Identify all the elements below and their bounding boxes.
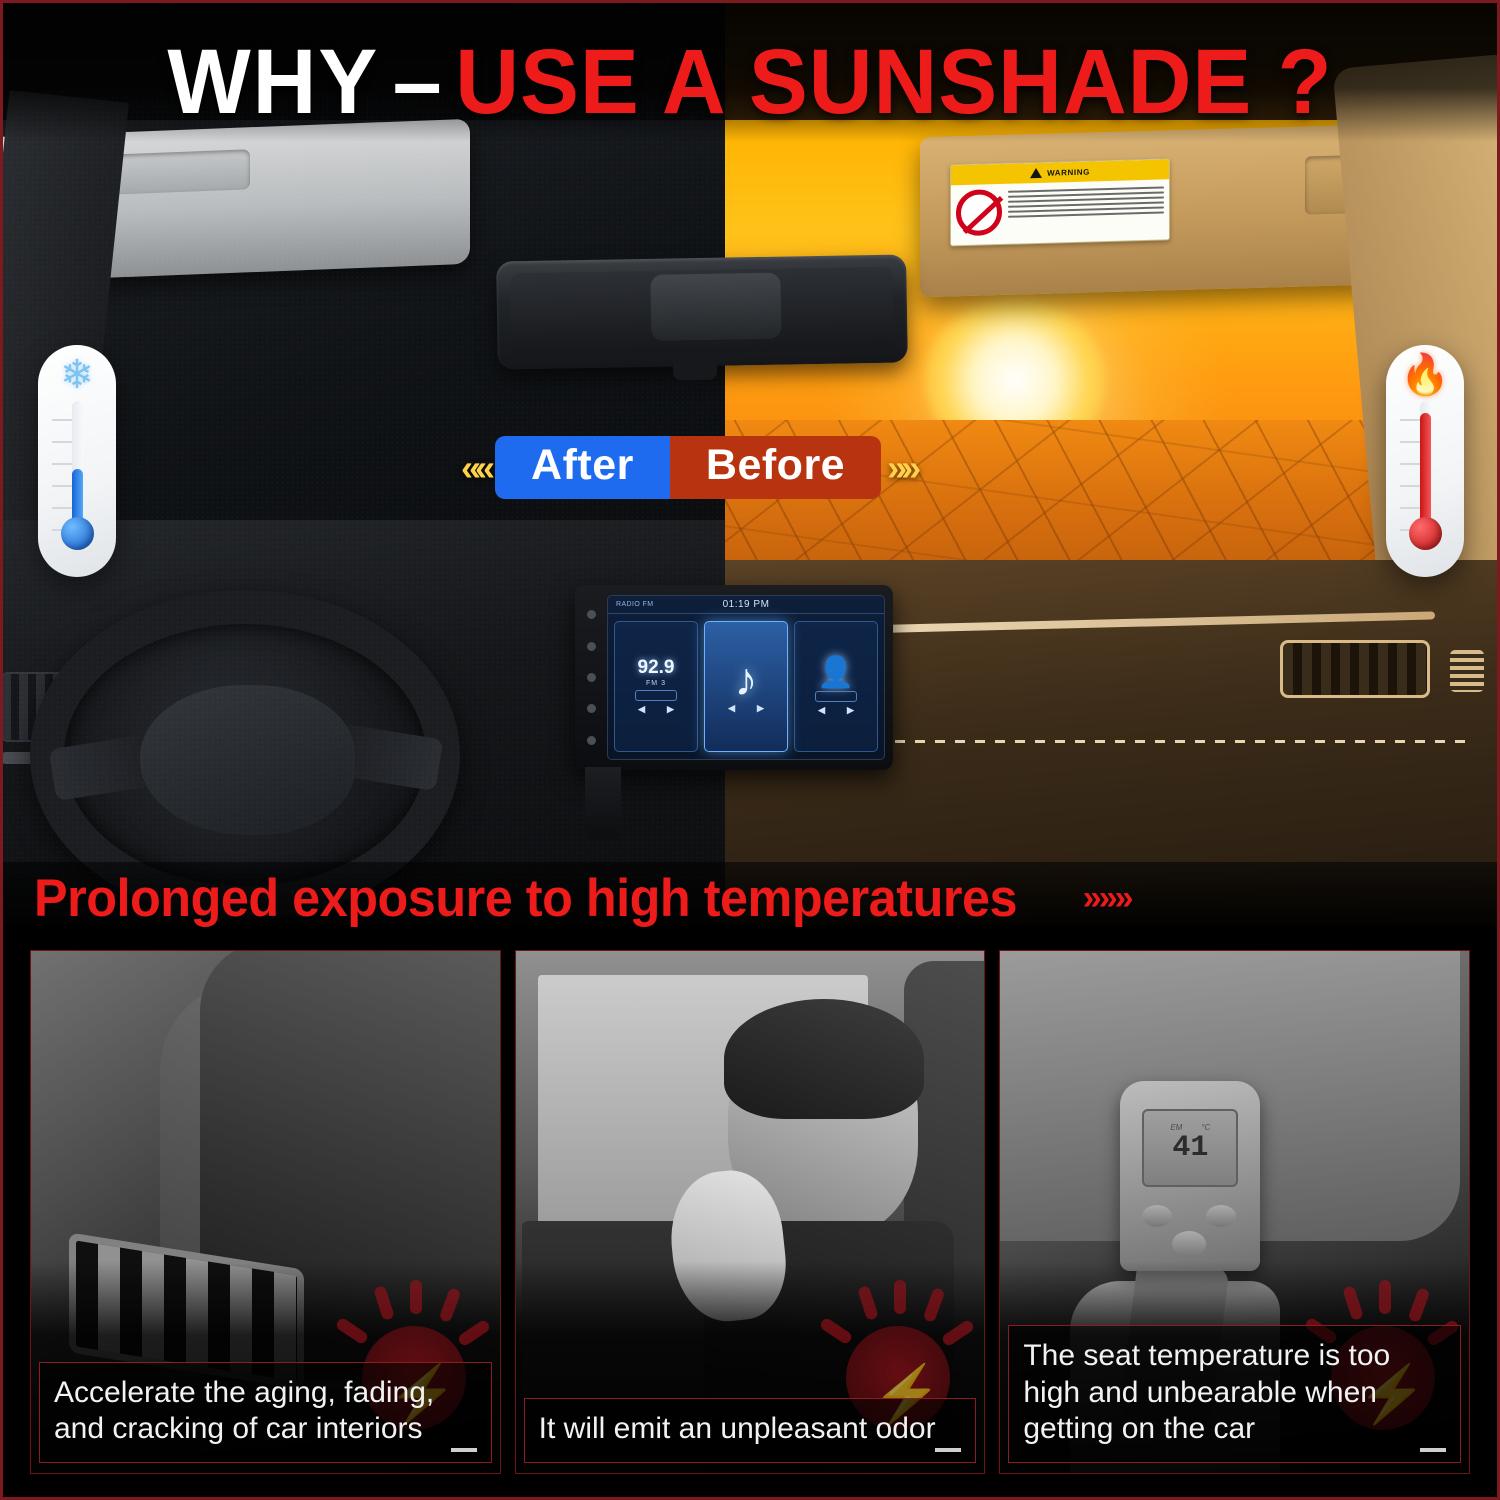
radio-seek-controls[interactable]: ◀ ▶ [638,704,674,715]
product-infographic: WARNING [0,0,1500,1500]
subhead-chevrons-icon: »»» [1083,879,1131,918]
lcd-mode-labels: EM°C [1170,1123,1210,1132]
before-after-badges: «« After Before »» [455,436,921,499]
panel-caption-text: It will emit an unpleasant odor [539,1411,962,1448]
thermometer-mercury-hot [1420,413,1431,531]
headline-white: WHY [167,36,379,128]
rearview-mirror [496,254,908,369]
head-unit-screen[interactable]: RADIO FM 01:19 PM 92.9 FM 3 ◀ ▶ ♪ [607,595,885,760]
back-button-icon[interactable] [587,704,596,713]
cold-thermometer: ❄ [38,345,116,577]
menu-button-icon[interactable] [587,673,596,682]
thermometer-reading: 41 [1172,1131,1208,1165]
subhead-text: Prolonged exposure to high temperatures [34,872,1017,925]
after-badge: After [495,436,670,499]
caption-underscore [1420,1448,1446,1452]
head-unit-side-buttons[interactable] [583,599,599,756]
hot-thermometer: 🔥 [1386,345,1464,577]
power-button-icon[interactable] [587,610,596,619]
warning-text-lines [1008,184,1164,234]
caption-underscore [935,1448,961,1452]
phone-action-pill[interactable] [815,691,857,702]
panel-caption: Accelerate the aging, fading, and cracki… [39,1362,492,1463]
seek-next-icon[interactable]: ▶ [667,704,674,715]
phone-next-icon[interactable]: ▶ [847,705,854,716]
warning-triangle-icon [1030,168,1042,178]
thermometer-bulb-cold [61,517,94,550]
volume-button-icon[interactable] [587,736,596,745]
headline-red: USE A SUNSHADE ? [455,36,1332,128]
warning-body [951,179,1169,241]
head-unit-clock: 01:19 PM [723,599,770,610]
media-next-icon[interactable]: ▶ [757,703,764,714]
panel-seat-temperature: EM°C 41 ⚡ The seat temperature [999,950,1470,1474]
air-vent-sunlit [1280,640,1430,698]
snowflake-icon: ❄ [38,355,116,395]
media-transport-controls[interactable]: ◀ ▶ [728,703,764,714]
head-unit-mount [585,767,621,839]
headline-dash: – [379,36,455,128]
person-hair [724,999,924,1119]
caption-underscore [451,1448,477,1452]
hero-split-comparison: WARNING [0,0,1500,925]
gun-button-right[interactable] [1206,1205,1236,1227]
gun-button-left[interactable] [1142,1205,1172,1227]
phone-prev-icon[interactable]: ◀ [818,705,825,716]
infotainment-head-unit[interactable]: RADIO FM 01:19 PM 92.9 FM 3 ◀ ▶ ♪ [575,585,893,770]
before-badge: Before [670,436,881,499]
contact-person-icon: 👤 [817,658,854,688]
head-unit-source-label: RADIO FM [616,601,653,608]
radio-tile[interactable]: 92.9 FM 3 ◀ ▶ [614,621,698,752]
panel-interior-aging: ⚡ Accelerate the aging, fading, and crac… [30,950,501,1474]
mirror-glass [510,267,893,356]
home-button-icon[interactable] [587,642,596,651]
head-unit-status-bar: RADIO FM 01:19 PM [608,596,884,614]
gun-button-center[interactable] [1172,1231,1206,1257]
panel-caption-text: Accelerate the aging, fading, and cracki… [54,1375,477,1448]
left-chevrons-icon: «« [455,450,495,486]
airbag-warning-label: WARNING [950,158,1170,246]
head-unit-tiles: 92.9 FM 3 ◀ ▶ ♪ ◀ ▶ [608,614,884,759]
mirror-reflection-headrest [650,273,781,341]
media-tile[interactable]: ♪ ◀ ▶ [704,621,788,752]
music-note-icon: ♪ [735,659,758,700]
infrared-thermometer-gun: EM°C 41 [1120,1081,1260,1271]
radio-preset-pill[interactable] [635,690,677,701]
warning-title: WARNING [1047,167,1090,177]
thermometer-lcd: EM°C 41 [1142,1109,1238,1187]
air-vent-side [1450,650,1484,692]
phone-tile[interactable]: 👤 ◀ ▶ [794,621,878,752]
page-title: WHY – USE A SUNSHADE ? [30,28,1470,136]
flame-icon: 🔥 [1386,355,1464,395]
radio-frequency: 92.9 [638,658,675,677]
seek-prev-icon[interactable]: ◀ [638,704,645,715]
panel-odor: ⚡ It will emit an unpleasant odor [515,950,986,1474]
benefit-panels: ⚡ Accelerate the aging, fading, and crac… [0,934,1500,1500]
no-child-seat-icon [956,189,1002,236]
panel-caption-text: The seat temperature is too high and unb… [1023,1338,1446,1448]
panel-caption: The seat temperature is too high and unb… [1008,1325,1461,1463]
right-chevrons-icon: »» [881,450,921,486]
mirror-stem [673,354,717,381]
thermometer-bulb-hot [1409,517,1442,550]
panel-caption: It will emit an unpleasant odor [524,1398,977,1463]
media-prev-icon[interactable]: ◀ [728,703,735,714]
phone-nav-controls[interactable]: ◀ ▶ [818,705,854,716]
radio-band: FM 3 [646,680,666,687]
subhead-banner: Prolonged exposure to high temperatures … [0,862,1500,934]
